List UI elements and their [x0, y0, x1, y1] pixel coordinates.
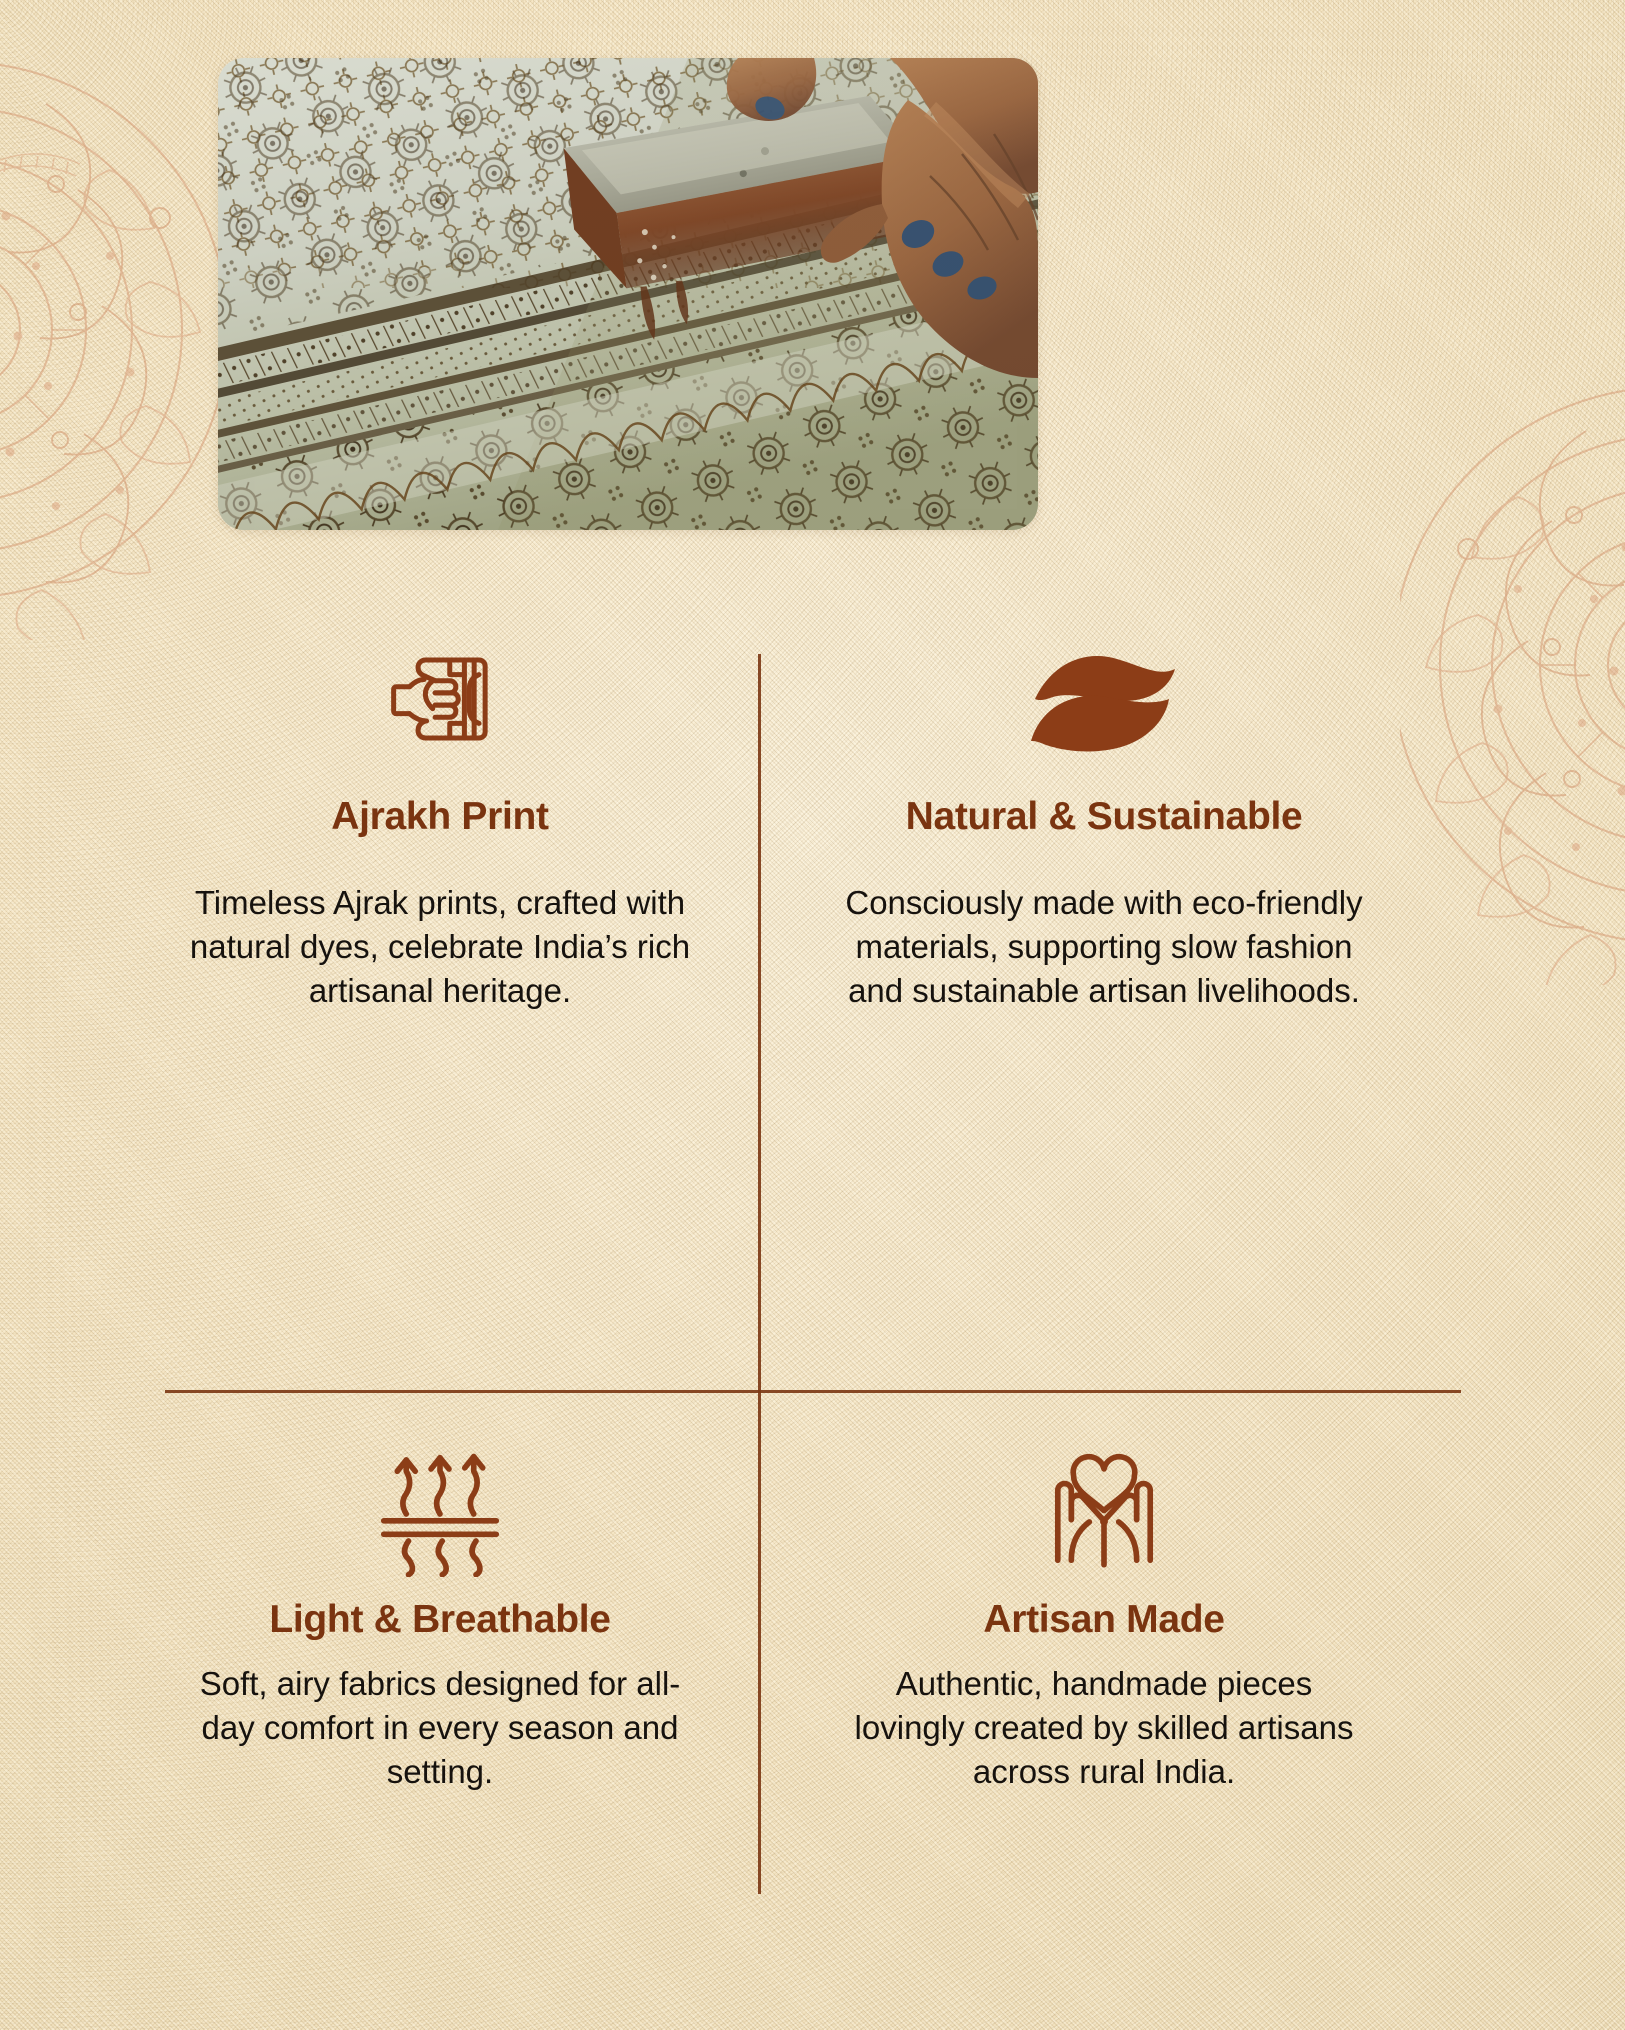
- hands-holding-heart-icon: [834, 1451, 1374, 1577]
- hero-image: [218, 58, 1038, 530]
- feature-card-ajrakh-print: Ajrakh Print Timeless Ajrak prints, craf…: [170, 636, 710, 1013]
- feature-card-light-breathable: Light & Breathable Soft, airy fabrics de…: [170, 1451, 710, 1794]
- feature-title: Ajrakh Print: [170, 796, 710, 839]
- features-grid: Ajrakh Print Timeless Ajrak prints, craf…: [128, 636, 1464, 1896]
- feature-card-natural-sustainable: Natural & Sustainable Consciously made w…: [834, 636, 1374, 1013]
- feature-card-artisan-made: Artisan Made Authentic, handmade pieces …: [834, 1451, 1374, 1794]
- feature-description: Authentic, handmade pieces lovingly crea…: [834, 1662, 1374, 1794]
- feature-description: Timeless Ajrak prints, crafted with natu…: [170, 881, 710, 1013]
- breathable-airflow-icon: [170, 1451, 710, 1577]
- horizontal-divider: [165, 1390, 1461, 1393]
- hand-holding-printing-block-icon: [170, 636, 710, 762]
- mandala-ornament-left: [0, 20, 230, 640]
- hero-image-container: [218, 58, 1038, 530]
- vertical-divider: [758, 654, 761, 1894]
- feature-description: Consciously made with eco-friendly mater…: [834, 881, 1374, 1013]
- feature-title: Artisan Made: [834, 1599, 1374, 1642]
- promo-page: Ajrakh Print Timeless Ajrak prints, craf…: [0, 0, 1625, 2030]
- feature-title: Light & Breathable: [170, 1599, 710, 1642]
- leaf-icon: [834, 636, 1374, 762]
- feature-title: Natural & Sustainable: [834, 796, 1374, 839]
- feature-description: Soft, airy fabrics designed for all-day …: [170, 1662, 710, 1794]
